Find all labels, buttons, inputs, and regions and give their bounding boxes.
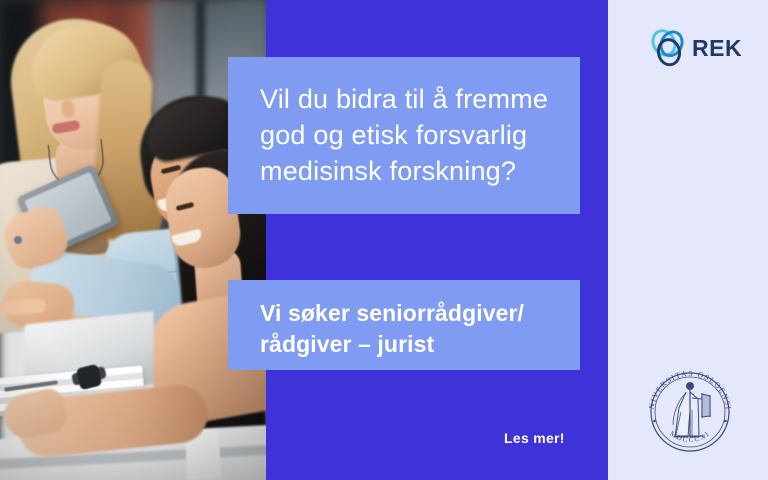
headline-line-3: medisinsk forskning?: [260, 153, 550, 189]
headline-line-1: Vil du bidra til å fremme: [260, 81, 550, 117]
position-card: Vi søker seniorrådgiver/ rådgiver – juri…: [228, 280, 580, 370]
university-of-oslo-seal-icon: UNIVERSITAS OSLOENSIS MDCCCXI: [640, 362, 740, 462]
office-photo: [0, 0, 266, 480]
position-line-2: rådgiver – jurist: [260, 329, 550, 360]
job-ad-banner: Vil du bidra til å fremme god og etisk f…: [0, 0, 768, 480]
position-line-1: Vi søker seniorrådgiver/: [260, 298, 550, 329]
read-more-link[interactable]: Les mer!: [504, 430, 565, 446]
photo-vignette: [0, 0, 266, 480]
rek-interlocking-rings-icon: [648, 27, 690, 69]
headline-card: Vil du bidra til å fremme god og etisk f…: [228, 57, 580, 214]
rek-wordmark: REK: [692, 35, 742, 62]
headline-line-2: god og etisk forsvarlig: [260, 117, 550, 153]
rek-logo[interactable]: REK: [648, 26, 740, 70]
